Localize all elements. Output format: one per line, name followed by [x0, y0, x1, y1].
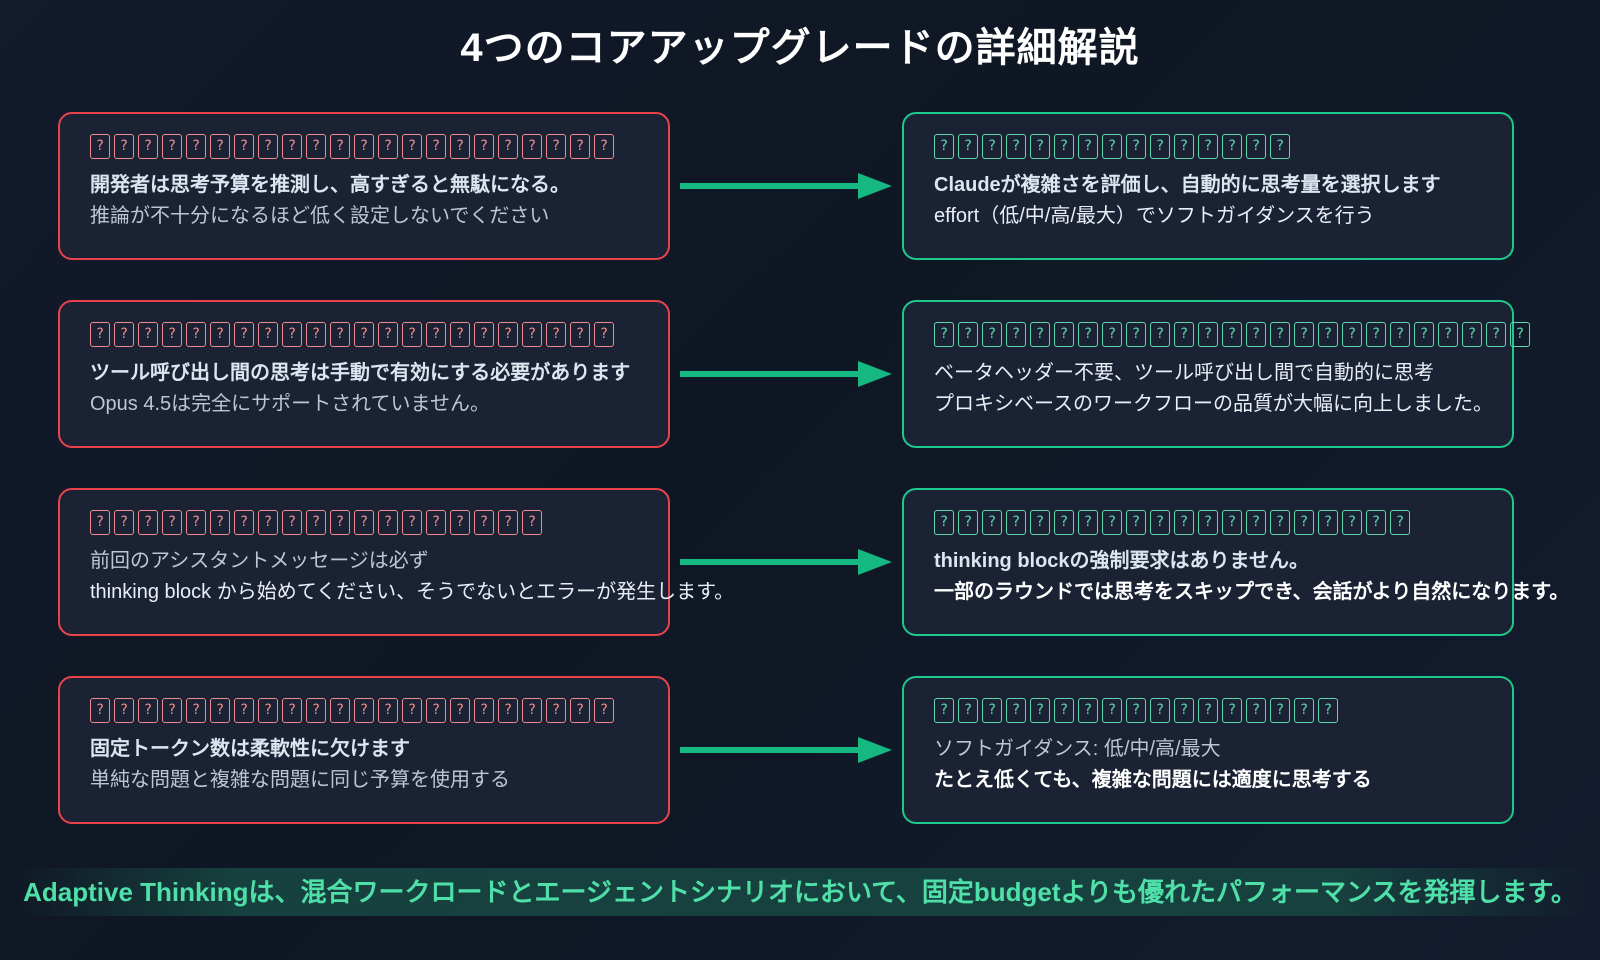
missing-glyph-box: ?: [1150, 510, 1170, 535]
missing-glyph-box: ?: [594, 322, 614, 347]
missing-glyph-box: ?: [1438, 322, 1458, 347]
missing-glyph-box: ?: [402, 510, 422, 535]
solution-line-1: thinking blockの強制要求はありません。: [934, 546, 1486, 577]
problem-line-1: 開発者は思考予算を推測し、高すぎると無駄になる。: [90, 170, 642, 201]
missing-glyph-box: ?: [1006, 698, 1026, 723]
missing-glyph-box: ?: [162, 510, 182, 535]
missing-glyph-box: ?: [1198, 510, 1218, 535]
problem-card: ??????????????????????固定トークン数は柔軟性に欠けます単純…: [58, 676, 670, 824]
missing-glyph-box: ?: [1366, 322, 1386, 347]
missing-glyph-box: ?: [1366, 510, 1386, 535]
missing-glyph-box: ?: [1222, 510, 1242, 535]
missing-glyph-box: ?: [330, 134, 350, 159]
missing-glyph-box: ?: [258, 322, 278, 347]
missing-glyph-box: ?: [1294, 698, 1314, 723]
missing-glyph-box: ?: [982, 698, 1002, 723]
solution-line-2: たとえ低くても、複雑な問題には適度に思考する: [934, 765, 1486, 796]
missing-glyph-box: ?: [498, 134, 518, 159]
missing-glyph-box: ?: [1390, 322, 1410, 347]
missing-glyph-box: ?: [258, 698, 278, 723]
missing-glyph-box: ?: [1150, 698, 1170, 723]
missing-glyph-box: ?: [330, 510, 350, 535]
missing-glyph-box: ?: [498, 510, 518, 535]
missing-glyph-box: ?: [426, 510, 446, 535]
missing-glyph-box: ?: [306, 134, 326, 159]
missing-glyph-box: ?: [114, 698, 134, 723]
missing-glyph-box: ?: [934, 698, 954, 723]
missing-glyph-box: ?: [402, 322, 422, 347]
missing-glyph-box: ?: [1270, 698, 1290, 723]
missing-glyph-box: ?: [186, 510, 206, 535]
arrow-head: [858, 549, 892, 575]
missing-glyph-box: ?: [1150, 134, 1170, 159]
missing-glyph-box: ?: [306, 510, 326, 535]
arrow-head: [858, 737, 892, 763]
solution-line-1: ベータヘッダー不要、ツール呼び出し間で自動的に思考: [934, 358, 1486, 389]
comparison-row: ??????????????????????固定トークン数は柔軟性に欠けます単純…: [0, 676, 1600, 864]
missing-glyph-box: ?: [1246, 698, 1266, 723]
missing-glyph-box: ?: [330, 698, 350, 723]
arrow-right-icon: [680, 366, 896, 382]
missing-glyph-box: ?: [378, 510, 398, 535]
missing-glyph-box: ?: [1318, 322, 1338, 347]
missing-glyph-box: ?: [354, 510, 374, 535]
missing-glyph-box: ?: [138, 134, 158, 159]
missing-glyph-header: ??????????????????????: [90, 322, 642, 348]
missing-glyph-box: ?: [1510, 322, 1530, 347]
missing-glyph-box: ?: [186, 322, 206, 347]
comparison-rows: ??????????????????????開発者は思考予算を推測し、高すぎると…: [0, 112, 1600, 864]
missing-glyph-box: ?: [1030, 510, 1050, 535]
missing-glyph-box: ?: [1270, 134, 1290, 159]
missing-glyph-box: ?: [234, 134, 254, 159]
missing-glyph-box: ?: [138, 510, 158, 535]
missing-glyph-box: ?: [282, 322, 302, 347]
missing-glyph-box: ?: [1078, 322, 1098, 347]
missing-glyph-box: ?: [1006, 134, 1026, 159]
footer-banner: Adaptive Thinkingは、混合ワークロードとエージェントシナリオにお…: [0, 868, 1600, 916]
missing-glyph-box: ?: [1174, 322, 1194, 347]
arrow-head: [858, 173, 892, 199]
missing-glyph-box: ?: [1246, 134, 1266, 159]
problem-line-2: thinking block から始めてください、そうでないとエラーが発生します…: [90, 577, 642, 608]
missing-glyph-box: ?: [570, 698, 590, 723]
missing-glyph-box: ?: [1102, 698, 1122, 723]
missing-glyph-box: ?: [1390, 510, 1410, 535]
missing-glyph-box: ?: [522, 698, 542, 723]
missing-glyph-header: ?????????????????????????: [934, 322, 1486, 348]
problem-line-2: 推論が不十分になるほど低く設定しないでください: [90, 201, 642, 232]
solution-card: ????????????????????thinking blockの強制要求は…: [902, 488, 1514, 636]
missing-glyph-box: ?: [354, 134, 374, 159]
missing-glyph-box: ?: [210, 134, 230, 159]
solution-line-2: プロキシベースのワークフローの品質が大幅に向上しました。: [934, 389, 1486, 420]
missing-glyph-box: ?: [1030, 134, 1050, 159]
solution-card: ?????????????????????????ベータヘッダー不要、ツール呼び…: [902, 300, 1514, 448]
missing-glyph-header: ?????????????????: [934, 698, 1486, 724]
missing-glyph-box: ?: [426, 698, 446, 723]
missing-glyph-box: ?: [1198, 322, 1218, 347]
missing-glyph-box: ?: [522, 322, 542, 347]
comparison-row: ??????????????????????開発者は思考予算を推測し、高すぎると…: [0, 112, 1600, 300]
missing-glyph-box: ?: [1126, 510, 1146, 535]
missing-glyph-box: ?: [114, 322, 134, 347]
missing-glyph-box: ?: [1126, 322, 1146, 347]
missing-glyph-box: ?: [474, 134, 494, 159]
missing-glyph-box: ?: [1318, 698, 1338, 723]
missing-glyph-box: ?: [450, 510, 470, 535]
missing-glyph-box: ?: [162, 322, 182, 347]
missing-glyph-box: ?: [186, 134, 206, 159]
missing-glyph-box: ?: [570, 322, 590, 347]
missing-glyph-box: ?: [498, 322, 518, 347]
missing-glyph-box: ?: [354, 698, 374, 723]
missing-glyph-box: ?: [546, 698, 566, 723]
missing-glyph-box: ?: [982, 322, 1002, 347]
page-title: 4つのコアアップグレードの詳細解説: [0, 0, 1600, 74]
missing-glyph-box: ?: [1486, 322, 1506, 347]
missing-glyph-box: ?: [1102, 134, 1122, 159]
comparison-row: ???????????????????前回のアシスタントメッセージは必ずthin…: [0, 488, 1600, 676]
missing-glyph-box: ?: [958, 698, 978, 723]
missing-glyph-box: ?: [1414, 322, 1434, 347]
missing-glyph-box: ?: [1054, 698, 1074, 723]
missing-glyph-box: ?: [1198, 698, 1218, 723]
missing-glyph-box: ?: [138, 322, 158, 347]
missing-glyph-box: ?: [1030, 698, 1050, 723]
missing-glyph-box: ?: [546, 134, 566, 159]
missing-glyph-box: ?: [1270, 322, 1290, 347]
missing-glyph-box: ?: [210, 698, 230, 723]
missing-glyph-box: ?: [594, 698, 614, 723]
missing-glyph-box: ?: [1246, 510, 1266, 535]
arrow-head: [858, 361, 892, 387]
missing-glyph-box: ?: [282, 510, 302, 535]
solution-card: ???????????????Claudeが複雑さを評価し、自動的に思考量を選択…: [902, 112, 1514, 260]
problem-card: ??????????????????????ツール呼び出し間の思考は手動で有効に…: [58, 300, 670, 448]
missing-glyph-box: ?: [522, 134, 542, 159]
missing-glyph-box: ?: [234, 698, 254, 723]
missing-glyph-box: ?: [90, 510, 110, 535]
missing-glyph-box: ?: [1342, 510, 1362, 535]
missing-glyph-box: ?: [1150, 322, 1170, 347]
missing-glyph-box: ?: [1078, 510, 1098, 535]
missing-glyph-box: ?: [1342, 322, 1362, 347]
missing-glyph-box: ?: [1174, 698, 1194, 723]
missing-glyph-box: ?: [90, 698, 110, 723]
problem-line-1: 前回のアシスタントメッセージは必ず: [90, 546, 642, 577]
missing-glyph-box: ?: [1222, 698, 1242, 723]
missing-glyph-box: ?: [1462, 322, 1482, 347]
missing-glyph-box: ?: [258, 510, 278, 535]
missing-glyph-box: ?: [982, 510, 1002, 535]
missing-glyph-box: ?: [1102, 510, 1122, 535]
missing-glyph-box: ?: [378, 134, 398, 159]
missing-glyph-box: ?: [210, 510, 230, 535]
solution-line-1: ソフトガイダンス: 低/中/高/最大: [934, 734, 1486, 765]
missing-glyph-box: ?: [1054, 510, 1074, 535]
missing-glyph-box: ?: [498, 698, 518, 723]
missing-glyph-box: ?: [1006, 322, 1026, 347]
missing-glyph-box: ?: [1174, 510, 1194, 535]
missing-glyph-box: ?: [982, 134, 1002, 159]
footer-text: Adaptive Thinkingは、混合ワークロードとエージェントシナリオにお…: [13, 868, 1587, 916]
missing-glyph-box: ?: [90, 134, 110, 159]
solution-line-2: effort（低/中/高/最大）でソフトガイダンスを行う: [934, 201, 1486, 232]
missing-glyph-box: ?: [1198, 134, 1218, 159]
solution-card: ?????????????????ソフトガイダンス: 低/中/高/最大たとえ低く…: [902, 676, 1514, 824]
missing-glyph-box: ?: [958, 322, 978, 347]
missing-glyph-box: ?: [1318, 510, 1338, 535]
missing-glyph-box: ?: [1078, 134, 1098, 159]
missing-glyph-box: ?: [426, 322, 446, 347]
problem-line-2: Opus 4.5は完全にサポートされていません。: [90, 389, 642, 420]
missing-glyph-box: ?: [306, 322, 326, 347]
missing-glyph-box: ?: [1006, 510, 1026, 535]
missing-glyph-box: ?: [1054, 134, 1074, 159]
missing-glyph-box: ?: [282, 134, 302, 159]
missing-glyph-box: ?: [1270, 510, 1290, 535]
arrow-shaft: [680, 371, 860, 377]
missing-glyph-box: ?: [522, 510, 542, 535]
missing-glyph-box: ?: [1030, 322, 1050, 347]
missing-glyph-box: ?: [474, 698, 494, 723]
missing-glyph-box: ?: [1222, 322, 1242, 347]
missing-glyph-box: ?: [1126, 698, 1146, 723]
missing-glyph-box: ?: [162, 698, 182, 723]
missing-glyph-header: ????????????????????: [934, 510, 1486, 536]
problem-card: ??????????????????????開発者は思考予算を推測し、高すぎると…: [58, 112, 670, 260]
comparison-row: ??????????????????????ツール呼び出し間の思考は手動で有効に…: [0, 300, 1600, 488]
problem-line-1: ツール呼び出し間の思考は手動で有効にする必要があります: [90, 358, 642, 389]
missing-glyph-box: ?: [402, 698, 422, 723]
solution-line-2: 一部のラウンドでは思考をスキップでき、会話がより自然になります。: [934, 577, 1486, 608]
missing-glyph-box: ?: [234, 510, 254, 535]
missing-glyph-box: ?: [402, 134, 422, 159]
arrow-shaft: [680, 183, 860, 189]
missing-glyph-box: ?: [934, 510, 954, 535]
missing-glyph-box: ?: [378, 322, 398, 347]
missing-glyph-box: ?: [210, 322, 230, 347]
missing-glyph-box: ?: [1126, 134, 1146, 159]
missing-glyph-box: ?: [1246, 322, 1266, 347]
missing-glyph-box: ?: [162, 134, 182, 159]
missing-glyph-box: ?: [594, 134, 614, 159]
problem-card: ???????????????????前回のアシスタントメッセージは必ずthin…: [58, 488, 670, 636]
missing-glyph-box: ?: [450, 698, 470, 723]
missing-glyph-box: ?: [934, 134, 954, 159]
missing-glyph-box: ?: [1174, 134, 1194, 159]
missing-glyph-box: ?: [234, 322, 254, 347]
problem-line-1: 固定トークン数は柔軟性に欠けます: [90, 734, 642, 765]
missing-glyph-box: ?: [474, 510, 494, 535]
missing-glyph-box: ?: [186, 698, 206, 723]
arrow-right-icon: [680, 554, 896, 570]
missing-glyph-box: ?: [934, 322, 954, 347]
missing-glyph-header: ??????????????????????: [90, 134, 642, 160]
problem-line-2: 単純な問題と複雑な問題に同じ予算を使用する: [90, 765, 642, 796]
missing-glyph-box: ?: [330, 322, 350, 347]
missing-glyph-box: ?: [114, 134, 134, 159]
missing-glyph-box: ?: [1054, 322, 1074, 347]
solution-line-1: Claudeが複雑さを評価し、自動的に思考量を選択します: [934, 170, 1486, 201]
missing-glyph-box: ?: [90, 322, 110, 347]
missing-glyph-box: ?: [306, 698, 326, 723]
missing-glyph-box: ?: [958, 510, 978, 535]
arrow-right-icon: [680, 742, 896, 758]
missing-glyph-box: ?: [958, 134, 978, 159]
missing-glyph-box: ?: [258, 134, 278, 159]
missing-glyph-box: ?: [450, 322, 470, 347]
missing-glyph-header: ???????????????: [934, 134, 1486, 160]
missing-glyph-box: ?: [114, 510, 134, 535]
missing-glyph-box: ?: [1294, 322, 1314, 347]
arrow-right-icon: [680, 178, 896, 194]
missing-glyph-box: ?: [282, 698, 302, 723]
missing-glyph-box: ?: [138, 698, 158, 723]
missing-glyph-box: ?: [474, 322, 494, 347]
arrow-shaft: [680, 559, 860, 565]
missing-glyph-box: ?: [426, 134, 446, 159]
missing-glyph-header: ??????????????????????: [90, 698, 642, 724]
arrow-shaft: [680, 747, 860, 753]
missing-glyph-box: ?: [546, 322, 566, 347]
missing-glyph-box: ?: [1078, 698, 1098, 723]
missing-glyph-box: ?: [378, 698, 398, 723]
missing-glyph-box: ?: [1102, 322, 1122, 347]
missing-glyph-box: ?: [354, 322, 374, 347]
missing-glyph-box: ?: [1294, 510, 1314, 535]
missing-glyph-box: ?: [1222, 134, 1242, 159]
missing-glyph-header: ???????????????????: [90, 510, 642, 536]
missing-glyph-box: ?: [570, 134, 590, 159]
missing-glyph-box: ?: [450, 134, 470, 159]
